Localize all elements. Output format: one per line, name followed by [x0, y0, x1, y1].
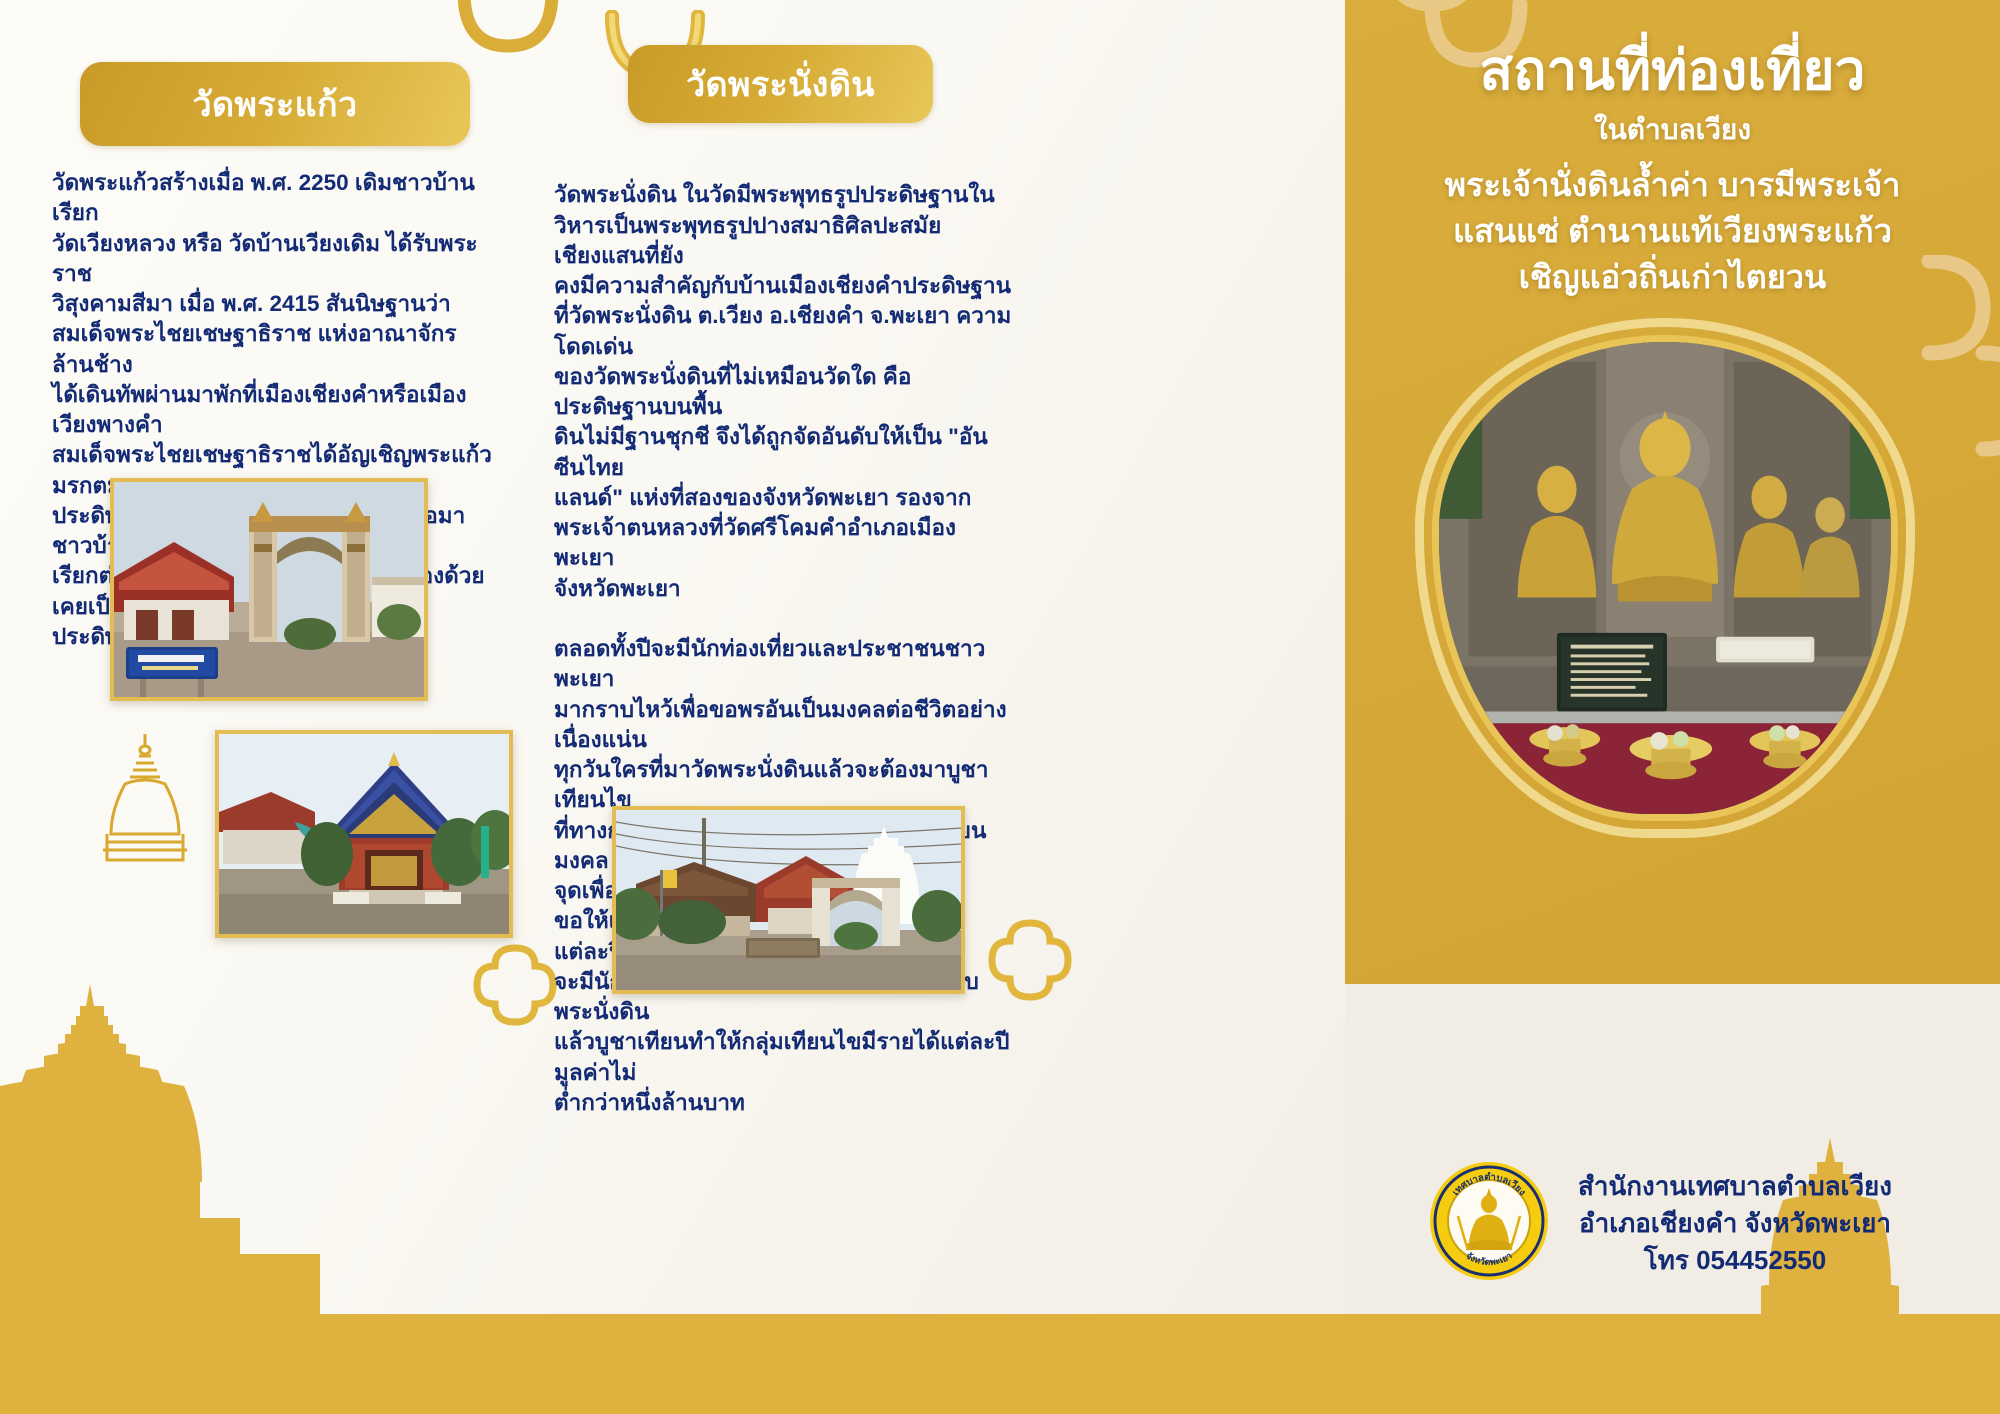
photo-buddha-images-altar	[1432, 335, 1898, 821]
bottom-gold-band-left	[0, 1314, 1345, 1414]
middle-column-paragraph-1: วัดพระนั่งดิน ในวัดมีพระพุทธรูปประดิษฐาน…	[554, 182, 1011, 600]
photo-wat-phra-nang-din-gate	[612, 806, 965, 994]
middle-column-header: วัดพระนั่งดิน	[628, 45, 933, 123]
brochure-page: วัดพระแก้ว วัดพระแก้วสร้างเมื่อ พ.ศ. 225…	[0, 0, 2000, 1414]
bottom-gold-band-right	[1345, 1314, 2000, 1414]
left-column-header-label: วัดพระแก้ว	[193, 77, 358, 131]
photo-wat-phra-kaeo-vihara	[215, 730, 513, 938]
quatrefoil-ornament-bottom-left	[470, 940, 560, 1030]
right-panel-title: สถานที่ท่องเที่ยว	[1345, 42, 2000, 100]
right-panel-slogan: พระเจ้านั่งดินล้ำค่า บารมีพระเจ้า แสนแซ่…	[1345, 162, 2000, 300]
middle-column-header-label: วัดพระนั่งดิน	[686, 57, 875, 111]
hero-photo-frame	[1415, 318, 1915, 838]
stupa-outline-ornament	[85, 730, 205, 865]
municipality-seal-logo: เทศบาลตำบลเวียง จังหวัดพะเยา	[1428, 1160, 1550, 1282]
photo-wat-phra-kaeo-gate	[110, 478, 428, 701]
stupa-silhouette-ornament	[0, 984, 320, 1314]
right-panel-subtitle: ในตำบลเวียง	[1345, 108, 2000, 152]
left-column-header: วัดพระแก้ว	[80, 62, 470, 146]
footer-contact-text: สำนักงานเทศบาลตำบลเวียง อำเภอเชียงคำ จัง…	[1570, 1168, 1900, 1279]
